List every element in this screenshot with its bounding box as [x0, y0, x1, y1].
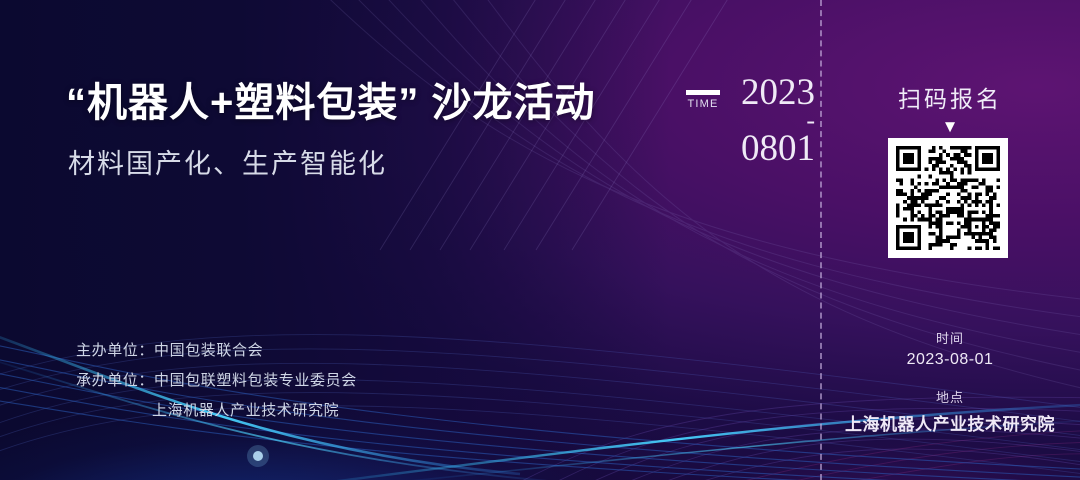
event-time-label: 时间 [820, 328, 1080, 347]
date-monthday: 0801 [690, 130, 815, 168]
organizer-cohost-second: 上海机器人产业技术研究院 [76, 396, 357, 426]
registration-heading: 扫码报名 [820, 80, 1080, 114]
down-triangle-icon: ▼ [820, 118, 1080, 135]
event-place-value: 上海机器人产业技术研究院 [820, 410, 1080, 435]
event-date-display: 2023 - 0801 [690, 74, 815, 168]
event-banner: “机器人+塑料包装” 沙龙活动 材料国产化、生产智能化 TIME 2023 - … [0, 0, 1080, 480]
organizer-list: 主办单位：中国包装联合会 承办单位：中国包联塑料包装专业委员会 上海机器人产业技… [76, 336, 357, 426]
qr-code-image [896, 146, 1000, 250]
organizer-cohost: 承办单位：中国包联塑料包装专业委员会 [76, 366, 357, 396]
page-title: “机器人+塑料包装” 沙龙活动 [66, 70, 595, 128]
page-subtitle: 材料国产化、生产智能化 [68, 142, 387, 181]
event-place-label: 地点 [820, 387, 1080, 406]
qr-code[interactable] [888, 138, 1008, 258]
date-year: 2023 [690, 74, 815, 112]
event-time-value: 2023-08-01 [820, 351, 1080, 369]
event-info: 时间 2023-08-01 地点 上海机器人产业技术研究院 [820, 328, 1080, 435]
organizer-host: 主办单位：中国包装联合会 [76, 336, 357, 366]
